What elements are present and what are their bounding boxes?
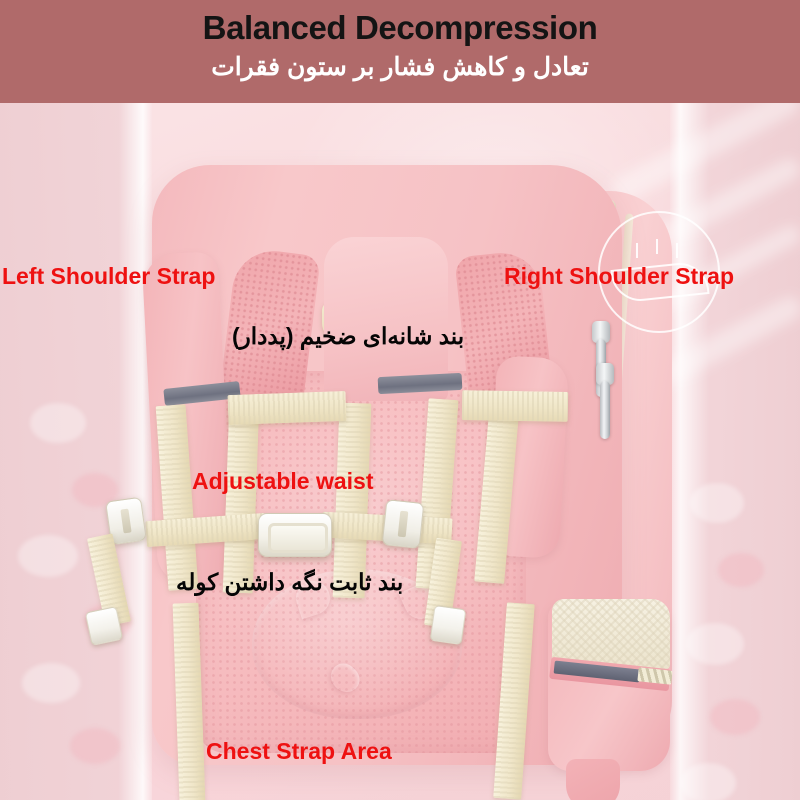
callout-left-shoulder-strap: Left Shoulder Strap	[2, 265, 215, 288]
tick-mark-icon	[636, 243, 638, 258]
product-photo: Left Shoulder Strap Right Shoulder Strap…	[0, 103, 800, 800]
left-tail-buckle[interactable]	[85, 606, 123, 646]
bag-bottom-tab	[566, 759, 620, 800]
backpack-graphic	[0, 103, 800, 800]
product-infographic: Balanced Decompression تعادل و کاهش فشار…	[0, 0, 800, 800]
header-banner: Balanced Decompression تعادل و کاهش فشار…	[0, 0, 800, 103]
callout-thick-padded-strap: بند شانه‌ای ضخیم (پددار)	[232, 325, 464, 348]
page-subtitle-farsi: تعادل و کاهش فشار بر ستون فقرات	[211, 54, 589, 82]
upper-pad-band-right	[462, 390, 569, 422]
buckle-slot	[120, 509, 131, 534]
callout-adjustable-waist: Adjustable waist	[192, 470, 373, 493]
chest-strap-side-release-buckle[interactable]	[258, 513, 332, 557]
upper-pad-band-left	[228, 391, 347, 425]
callout-fixed-holding-strap: بند ثابت نگه داشتن کوله	[176, 571, 403, 594]
callout-right-shoulder-strap: Right Shoulder Strap	[504, 265, 734, 288]
callout-chest-strap-area: Chest Strap Area	[206, 740, 392, 763]
zipper-pull[interactable]	[600, 381, 610, 439]
buckle-slot	[398, 511, 409, 538]
page-title: Balanced Decompression	[203, 11, 598, 44]
tick-mark-icon	[656, 239, 658, 254]
tick-mark-icon	[676, 243, 678, 258]
right-tail-buckle[interactable]	[430, 605, 467, 645]
right-adjuster-buckle[interactable]	[382, 499, 425, 549]
buckle-prong	[268, 523, 328, 553]
